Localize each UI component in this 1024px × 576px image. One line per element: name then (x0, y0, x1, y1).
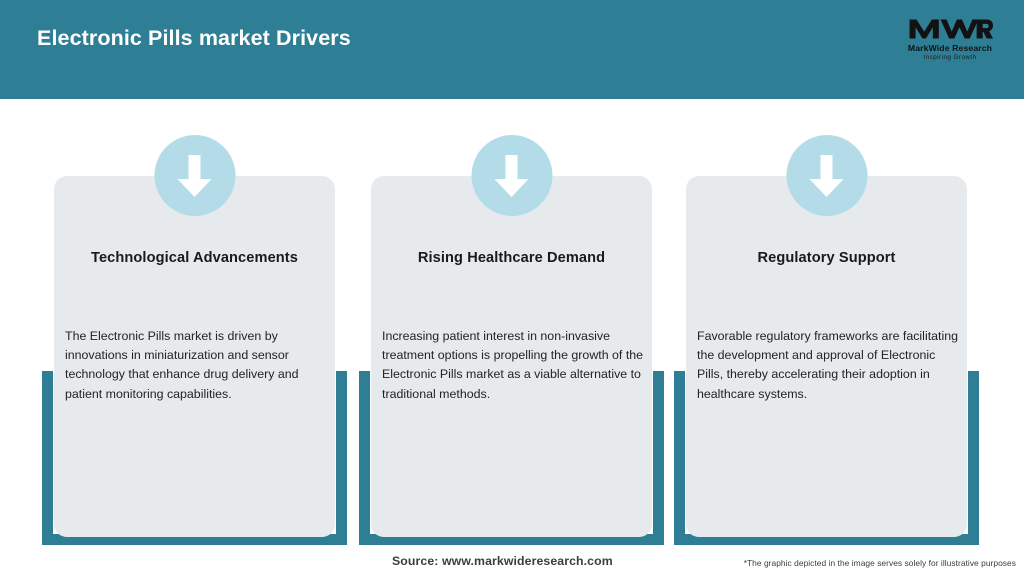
slide-canvas: Electronic Pills market Drivers MarkWide… (0, 0, 1024, 576)
card-body-text: Favorable regulatory frameworks are faci… (697, 327, 960, 404)
header-bar: Electronic Pills market Drivers MarkWide… (0, 0, 1024, 99)
card-body-text: Increasing patient interest in non-invas… (382, 327, 645, 404)
illustrative-disclaimer: *The graphic depicted in the image serve… (744, 558, 1016, 568)
bracket-right-bar (968, 371, 979, 545)
bracket-left-bar (359, 371, 370, 545)
down-arrow-icon (154, 135, 235, 216)
card-title: Rising Healthcare Demand (373, 250, 650, 266)
driver-card-group: Technological Advancements The Electroni… (0, 99, 1024, 576)
bracket-right-bar (653, 371, 664, 545)
mwr-monogram-icon (907, 16, 993, 42)
down-arrow-icon (471, 135, 552, 216)
page-title: Electronic Pills market Drivers (37, 26, 351, 51)
driver-card-3[interactable]: Regulatory Support Favorable regulatory … (674, 99, 979, 576)
driver-card-2[interactable]: Rising Healthcare Demand Increasing pati… (359, 99, 664, 576)
card-title: Regulatory Support (688, 250, 965, 266)
down-arrow-glyph (176, 153, 214, 199)
card-body-text: The Electronic Pills market is driven by… (65, 327, 328, 404)
card-title: Technological Advancements (56, 250, 333, 266)
down-arrow-icon (786, 135, 867, 216)
source-attribution: Source: www.markwideresearch.com (392, 554, 613, 568)
down-arrow-glyph (808, 153, 846, 199)
bracket-left-bar (42, 371, 53, 545)
logo-company-name: MarkWide Research (908, 43, 992, 53)
driver-card-1[interactable]: Technological Advancements The Electroni… (42, 99, 347, 576)
brand-logo: MarkWide Research Inspiring Growth (894, 10, 1006, 66)
down-arrow-glyph (493, 153, 531, 199)
logo-tagline: Inspiring Growth (923, 54, 976, 61)
bracket-right-bar (336, 371, 347, 545)
bracket-left-bar (674, 371, 685, 545)
